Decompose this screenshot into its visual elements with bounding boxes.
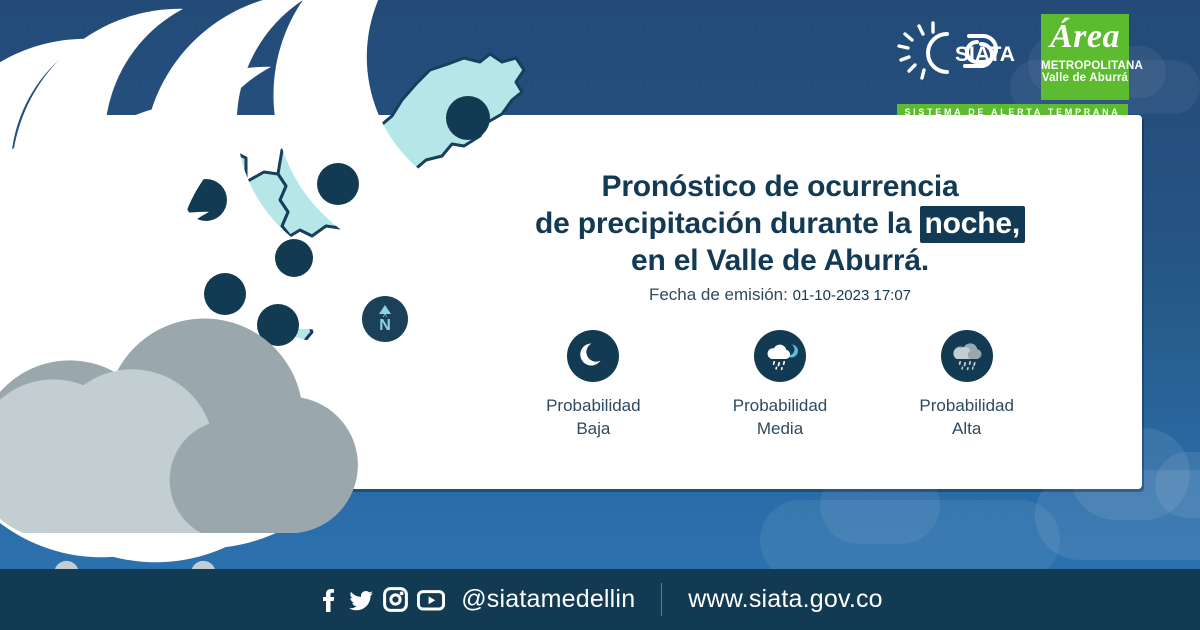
cloud-rain-icon (137, 469, 183, 515)
website-url[interactable]: www.siata.gov.co (688, 585, 882, 614)
cloud-rain-icon (941, 330, 993, 382)
footer-bar: @siatamedellin www.siata.gov.co (0, 569, 1200, 630)
emission-date-value: 01-10-2023 17:07 (793, 287, 911, 304)
background-cloud-icon (760, 500, 1060, 580)
page-title: Pronóstico de ocurrencia de precipitació… (470, 168, 1090, 279)
emission-date-label: Fecha de emisión: (649, 285, 788, 304)
legend-alta-line1: Probabilidad (873, 394, 1060, 417)
legend-media-line1: Probabilidad (687, 394, 874, 417)
moon-cloud-rain-glyph (761, 337, 799, 375)
facebook-icon[interactable] (317, 587, 339, 613)
moon-glyph (576, 339, 610, 373)
social-handle[interactable]: @siatamedellin (461, 585, 635, 614)
header-logos: SIATA Área METROPOLITANA Valle de Aburrá… (895, 14, 1130, 112)
title-line-2-text: de precipitación durante la (535, 207, 911, 240)
title-highlight-noche: noche, (920, 206, 1025, 243)
cloud-rain-glyph (948, 337, 986, 375)
legend-item-media: Probabilidad Media (687, 330, 874, 440)
legend-label-alta: Probabilidad Alta (873, 394, 1060, 440)
siata-logo-text: SIATA (955, 43, 1015, 66)
compass-label: N (379, 319, 391, 333)
compass-north-icon: ^ N (362, 296, 408, 342)
legend-baja-line2: Baja (500, 417, 687, 440)
title-line-3: en el Valle de Aburrá. (470, 242, 1090, 279)
moon-cloud-rain-icon (754, 330, 806, 382)
area-logo-line1: METROPOLITANA (1041, 60, 1129, 72)
area-logo-script: Área (1041, 14, 1129, 60)
title-line-2: de precipitación durante la noche, (470, 205, 1090, 242)
legend-alta-line2: Alta (873, 417, 1060, 440)
probability-legend: Probabilidad Baja (500, 330, 1060, 440)
legend-item-alta: Probabilidad Alta (873, 330, 1060, 440)
social-links[interactable] (317, 587, 445, 613)
map-marker-caldas (137, 469, 183, 515)
legend-media-line2: Media (687, 417, 874, 440)
title-line-1: Pronóstico de ocurrencia (470, 168, 1090, 205)
legend-label-media: Probabilidad Media (687, 394, 874, 440)
legend-label-baja: Probabilidad Baja (500, 394, 687, 440)
area-metropolitana-logo: Área METROPOLITANA Valle de Aburrá (1041, 14, 1129, 100)
area-logo-line2: Valle de Aburrá (1041, 72, 1129, 85)
footer-divider (661, 583, 662, 616)
instagram-icon[interactable] (383, 587, 408, 612)
emission-date: Fecha de emisión: 01-10-2023 17:07 (470, 285, 1090, 305)
siata-logo-icon: SIATA (895, 20, 1035, 86)
infographic-root: SIATA Área METROPOLITANA Valle de Aburrá… (0, 0, 1200, 630)
legend-item-baja: Probabilidad Baja (500, 330, 687, 440)
moon-icon (567, 330, 619, 382)
twitter-icon[interactable] (348, 587, 374, 613)
legend-baja-line1: Probabilidad (500, 394, 687, 417)
youtube-icon[interactable] (417, 589, 445, 611)
valle-de-aburra-map: ^ N (50, 40, 570, 570)
